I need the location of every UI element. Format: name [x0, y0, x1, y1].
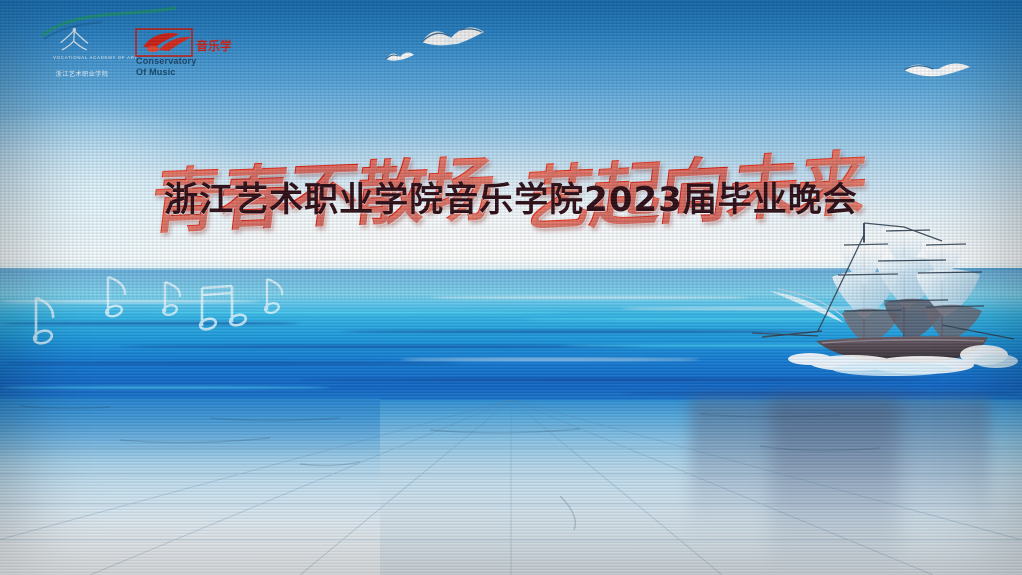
academy-logo-chinese: 浙江艺术职业学院 [43, 69, 121, 78]
event-subtitle: 浙江艺术职业学院音乐学院2023届毕业晚会 [0, 172, 1022, 221]
eighth-note-5-icon [258, 274, 300, 318]
conservatory-logo-english: Conservatory Of Music [136, 56, 196, 77]
conservatory-english-line1: Conservatory [136, 56, 196, 67]
academy-logo: VOCATIONAL ACADEMY OF ART 浙江艺术职业学院 [43, 22, 121, 84]
eighth-note-1-icon [26, 292, 70, 346]
tall-sailing-ship-icon [752, 205, 1022, 390]
led-backdrop-screen: VOCATIONAL ACADEMY OF ART 浙江艺术职业学院 音乐学院 … [0, 0, 1022, 575]
beamed-eighth-notes-icon [192, 282, 254, 334]
seagull-small-left-icon [385, 48, 415, 64]
seagull-large-center-icon [420, 20, 486, 52]
conservatory-logo: 音乐学院 Conservatory Of Music [135, 28, 235, 84]
red-conservatory-mark-icon: 音乐学院 [135, 28, 231, 58]
eighth-note-2-icon [100, 272, 142, 320]
dancer-figure-icon [57, 22, 109, 56]
conservatory-english-line2: Of Music [136, 67, 196, 78]
calligraphy-title: 青春不散场 艺起向未来 [0, 78, 1022, 170]
floor-tile-grid [0, 400, 1022, 575]
svg-text:音乐学院: 音乐学院 [196, 38, 231, 53]
academy-logo-english: VOCATIONAL ACADEMY OF ART [53, 55, 123, 61]
